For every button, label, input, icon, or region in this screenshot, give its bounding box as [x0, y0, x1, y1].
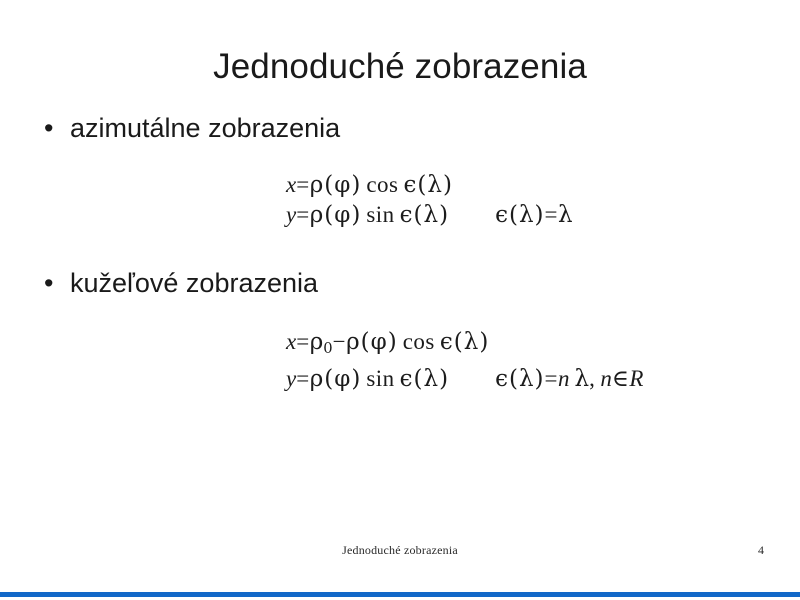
formula-conic-line-y: y=ρ(φ)sinϵ(λ) ϵ(λ)=nλ,n∈R [286, 364, 643, 394]
math-paren-open: ( [360, 329, 371, 355]
math-cos: cos [366, 172, 398, 197]
math-rho: ρ [310, 172, 324, 198]
math-subscript-zero: 0 [323, 340, 332, 357]
math-epsilon: ϵ [400, 366, 413, 392]
math-paren-close: ) [387, 329, 398, 355]
math-paren-close: ) [534, 366, 545, 392]
math-equals: = [296, 366, 309, 391]
math-paren-close: ) [350, 172, 361, 198]
math-lambda: λ [427, 172, 442, 198]
bullet-item-conic: • kužeľové zobrazenia [0, 263, 800, 303]
formula-azimuthal-line-x: x=ρ(φ)cosϵ(λ) [286, 170, 573, 200]
bullet-item-azimuthal: • azimutálne zobrazenia [0, 108, 800, 148]
math-epsilon: ϵ [403, 172, 416, 198]
formula-conic-aux: ϵ(λ)=nλ,n∈R [495, 364, 643, 394]
math-phi: φ [371, 329, 387, 355]
math-lambda: λ [575, 366, 590, 392]
math-var-x: x [286, 329, 296, 354]
math-equals: = [296, 329, 309, 354]
math-rho: ρ [346, 329, 360, 355]
math-var-n: n [600, 366, 612, 391]
bullet-label-azimuthal: azimutálne zobrazenia [70, 108, 800, 148]
math-var-x: x [286, 172, 296, 197]
math-phi: φ [334, 366, 350, 392]
math-var-y: y [286, 202, 296, 227]
bullet-label-conic: kužeľové zobrazenia [70, 263, 800, 303]
math-paren-close: ) [350, 366, 361, 392]
math-paren-close: ) [438, 202, 449, 228]
math-minus: − [333, 329, 346, 354]
bottom-accent-rule [0, 592, 800, 597]
math-lambda: λ [558, 202, 573, 228]
math-phi: φ [334, 202, 350, 228]
math-rho: ρ [310, 202, 324, 228]
math-lambda: λ [424, 366, 439, 392]
math-paren-close: ) [478, 329, 489, 355]
math-set-reals: R [629, 366, 643, 391]
math-equals: = [296, 172, 309, 197]
math-phi: φ [334, 172, 350, 198]
math-epsilon: ϵ [440, 329, 453, 355]
math-paren-close: ) [534, 202, 545, 228]
math-paren-open: ( [413, 202, 424, 228]
bullet-marker-icon: • [44, 263, 70, 303]
bullet-marker-icon: • [44, 108, 70, 148]
math-paren-open: ( [508, 366, 519, 392]
math-var-y: y [286, 366, 296, 391]
formula-azimuthal: x=ρ(φ)cosϵ(λ) y=ρ(φ)sinϵ(λ) ϵ(λ)=λ [286, 170, 573, 230]
slide-footer-text: Jednoduché zobrazenia [0, 543, 800, 558]
math-equals: = [545, 366, 558, 391]
math-epsilon: ϵ [400, 202, 413, 228]
math-paren-open: ( [416, 172, 427, 198]
math-paren-close: ) [350, 202, 361, 228]
math-comma: , [589, 366, 595, 391]
math-paren-open: ( [323, 202, 334, 228]
math-paren-close: ) [438, 366, 449, 392]
math-paren-open: ( [323, 366, 334, 392]
math-paren-open: ( [413, 366, 424, 392]
formula-azimuthal-line-y: y=ρ(φ)sinϵ(λ) ϵ(λ)=λ [286, 200, 573, 230]
math-cos: cos [403, 329, 435, 354]
math-paren-open: ( [508, 202, 519, 228]
math-lambda: λ [519, 202, 534, 228]
math-epsilon: ϵ [495, 202, 508, 228]
math-paren-close: ) [442, 172, 453, 198]
formula-conic: x=ρ0−ρ(φ)cosϵ(λ) y=ρ(φ)sinϵ(λ) ϵ(λ)=nλ,n… [286, 327, 643, 394]
formula-azimuthal-aux: ϵ(λ)=λ [495, 200, 573, 230]
math-lambda: λ [424, 202, 439, 228]
math-lambda: λ [519, 366, 534, 392]
presentation-slide: Jednoduché zobrazenia • azimutálne zobra… [0, 0, 800, 600]
math-rho-zero: ρ [310, 329, 324, 355]
math-equals: = [545, 202, 558, 227]
math-element-of: ∈ [612, 366, 630, 391]
math-paren-open: ( [323, 172, 334, 198]
formula-conic-line-x: x=ρ0−ρ(φ)cosϵ(λ) [286, 327, 643, 364]
math-equals: = [296, 202, 309, 227]
math-rho: ρ [310, 366, 324, 392]
math-var-n: n [558, 366, 570, 391]
math-lambda: λ [464, 329, 479, 355]
math-sin: sin [366, 366, 394, 391]
math-sin: sin [366, 202, 394, 227]
slide-page-number: 4 [758, 543, 764, 558]
math-epsilon: ϵ [495, 366, 508, 392]
slide-title: Jednoduché zobrazenia [0, 46, 800, 87]
math-paren-open: ( [453, 329, 464, 355]
